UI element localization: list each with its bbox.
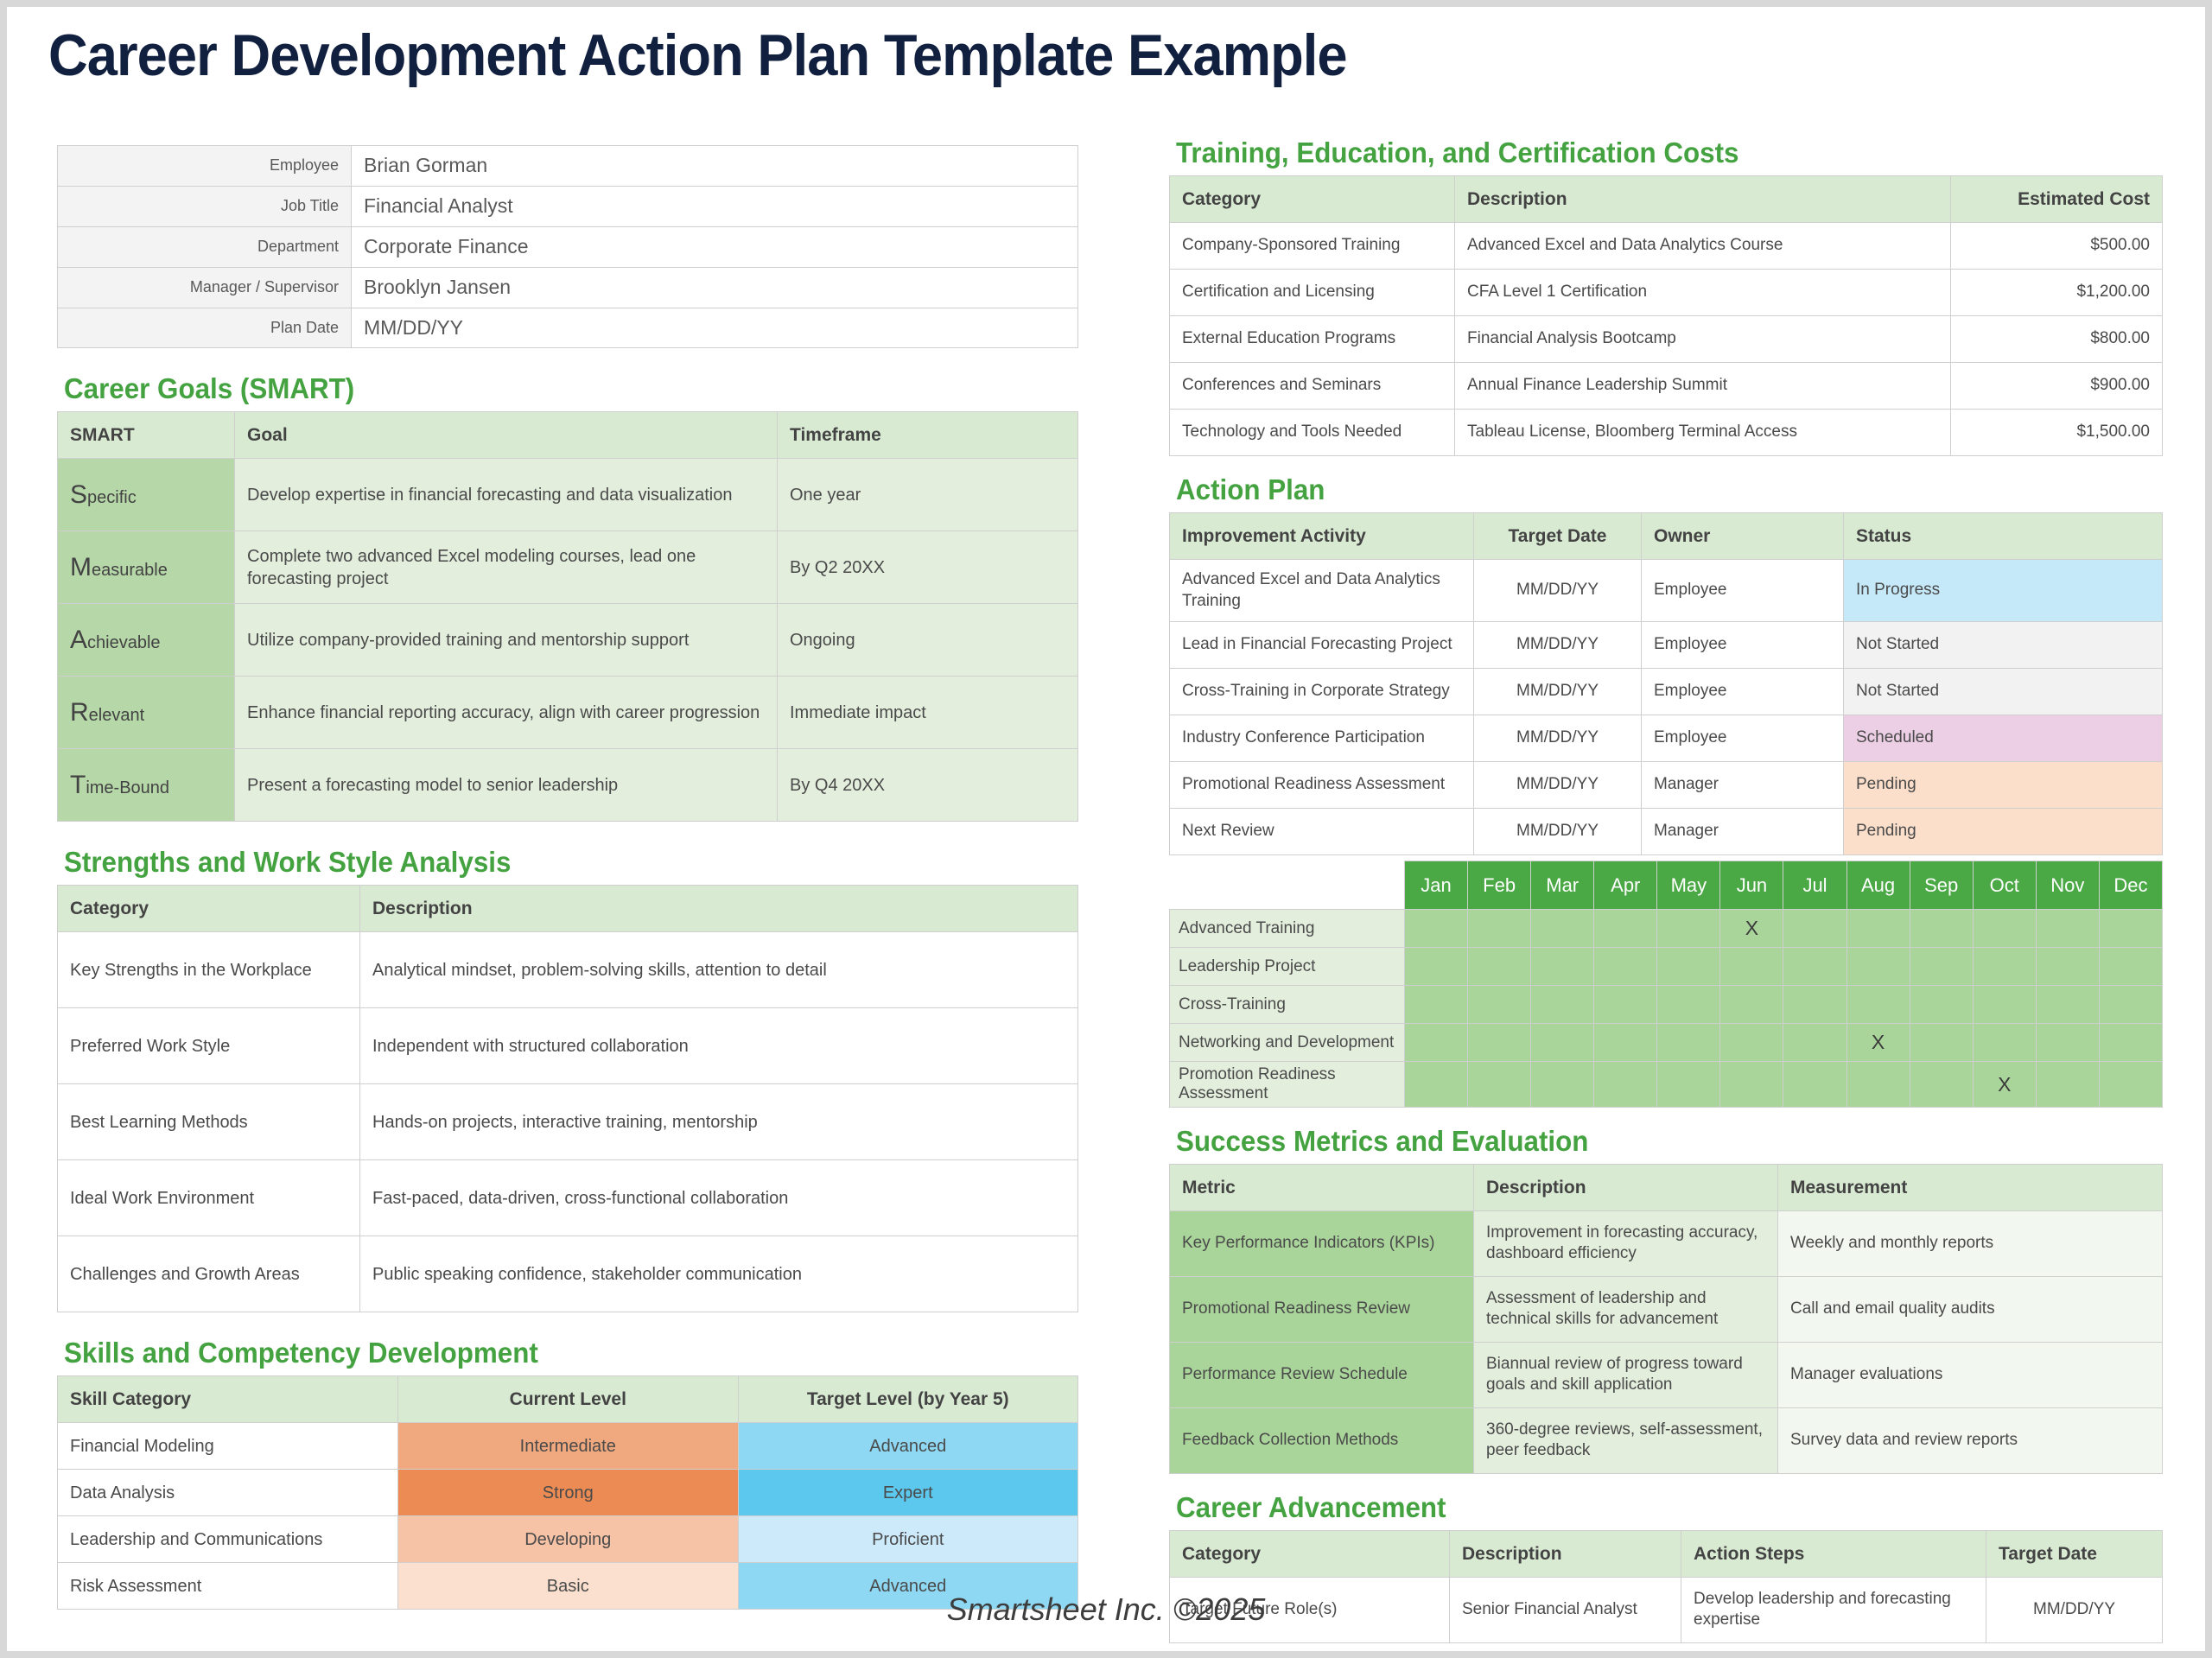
gantt-marker-cell[interactable]: X (1847, 1024, 1910, 1062)
gantt-cell[interactable] (1657, 986, 1720, 1024)
skill-target-level: Advanced (738, 1423, 1078, 1470)
info-row: Plan DateMM/DD/YY (58, 308, 1078, 348)
col-header-status: Status (1844, 512, 2163, 559)
smart-word: pecific (87, 488, 137, 507)
gantt-row-label: Cross-Training (1170, 986, 1405, 1024)
strength-description: Hands-on projects, interactive training,… (360, 1084, 1078, 1160)
action-activity: Lead in Financial Forecasting Project (1170, 622, 1474, 669)
gantt-month-feb: Feb (1468, 861, 1531, 910)
action-target-date: MM/DD/YY (1474, 622, 1642, 669)
smart-initial: M (70, 553, 92, 581)
smart-timeframe: By Q4 20XX (778, 749, 1078, 822)
skill-row: Financial ModelingIntermediateAdvanced (58, 1423, 1078, 1470)
footer-copyright: Smartsheet Inc. ©2025 (7, 1591, 2205, 1628)
gantt-cell[interactable] (1594, 910, 1657, 948)
gantt-cell[interactable] (1468, 910, 1531, 948)
smart-letter: Measurable (58, 531, 235, 604)
status-badge: Pending (1844, 762, 2163, 809)
career-goals-table: SMART Goal Timeframe SpecificDevelop exp… (57, 411, 1078, 822)
gantt-cell[interactable] (1405, 948, 1468, 986)
gantt-cell[interactable] (1594, 986, 1657, 1024)
gantt-cell[interactable] (1910, 986, 1973, 1024)
smart-word: elevant (89, 706, 145, 725)
gantt-row-label: Advanced Training (1170, 910, 1405, 948)
metric-measurement: Call and email quality audits (1778, 1276, 2163, 1342)
col-header-category: Category (58, 886, 360, 932)
career-goal-row: SpecificDevelop expertise in financial f… (58, 459, 1078, 531)
metric-description: Biannual review of progress toward goals… (1474, 1342, 1778, 1407)
action-activity: Advanced Excel and Data Analytics Traini… (1170, 559, 1474, 621)
gantt-row-label: Leadership Project (1170, 948, 1405, 986)
right-column: Training, Education, and Certification C… (1169, 138, 2163, 1643)
col-header-category: Category (1170, 175, 1455, 222)
cost-category: Company-Sponsored Training (1170, 222, 1455, 269)
metric-row: Performance Review ScheduleBiannual revi… (1170, 1342, 2163, 1407)
status-badge: Not Started (1844, 622, 2163, 669)
cost-description: CFA Level 1 Certification (1455, 269, 1951, 315)
cost-estimated: $500.00 (1951, 222, 2163, 269)
smart-goal: Utilize company-provided training and me… (235, 604, 778, 677)
gantt-cell[interactable] (1783, 1024, 1847, 1062)
smart-timeframe: Ongoing (778, 604, 1078, 677)
timeline-table: JanFebMarAprMayJunJulAugSepOctNovDec Adv… (1169, 861, 2163, 1108)
gantt-cell[interactable] (1468, 986, 1531, 1024)
gantt-row-label: Promotion Readiness Assessment (1170, 1062, 1405, 1108)
metric-measurement: Survey data and review reports (1778, 1407, 2163, 1473)
status-badge: In Progress (1844, 559, 2163, 621)
smart-timeframe: By Q2 20XX (778, 531, 1078, 604)
section-heading-skills: Skills and Competency Development (64, 1338, 1027, 1369)
gantt-cell[interactable] (1657, 910, 1720, 948)
strength-description: Fast-paced, data-driven, cross-functiona… (360, 1160, 1078, 1236)
metric-name: Key Performance Indicators (KPIs) (1170, 1210, 1474, 1276)
info-label: Employee (58, 146, 352, 187)
metric-name: Performance Review Schedule (1170, 1342, 1474, 1407)
smart-goal: Present a forecasting model to senior le… (235, 749, 778, 822)
action-activity: Next Review (1170, 809, 1474, 855)
cost-category: External Education Programs (1170, 315, 1455, 362)
info-label: Job Title (58, 186, 352, 226)
gantt-cell[interactable] (1594, 948, 1657, 986)
skill-category: Leadership and Communications (58, 1516, 398, 1563)
gantt-month-oct: Oct (1973, 861, 2036, 910)
smart-letter: Relevant (58, 677, 235, 749)
gantt-cell[interactable] (2036, 948, 2099, 986)
info-label: Department (58, 226, 352, 267)
action-owner: Employee (1642, 622, 1844, 669)
gantt-cell[interactable] (1657, 1024, 1720, 1062)
smart-initial: R (70, 698, 89, 727)
col-header-owner: Owner (1642, 512, 1844, 559)
action-plan-row: Next ReviewMM/DD/YYManagerPending (1170, 809, 2163, 855)
cost-description: Tableau License, Bloomberg Terminal Acce… (1455, 409, 1951, 455)
strength-category: Key Strengths in the Workplace (58, 932, 360, 1008)
col-header-target-date: Target Date (1986, 1530, 2163, 1577)
cost-row: Conferences and SeminarsAnnual Finance L… (1170, 362, 2163, 409)
action-target-date: MM/DD/YY (1474, 669, 1642, 715)
gantt-month-nov: Nov (2036, 861, 2099, 910)
gantt-cell[interactable] (1847, 1062, 1910, 1108)
col-header-description: Description (1450, 1530, 1681, 1577)
col-header-category: Category (1170, 1530, 1450, 1577)
gantt-cell[interactable] (1657, 1062, 1720, 1108)
skills-table: Skill Category Current Level Target Leve… (57, 1375, 1078, 1610)
timeline-gantt: JanFebMarAprMayJunJulAugSepOctNovDec Adv… (1169, 861, 2163, 1108)
gantt-cell[interactable] (1847, 986, 1910, 1024)
metric-measurement: Manager evaluations (1778, 1342, 2163, 1407)
smart-timeframe: One year (778, 459, 1078, 531)
metric-description: 360-degree reviews, self-assessment, pee… (1474, 1407, 1778, 1473)
info-row: Manager / SupervisorBrooklyn Jansen (58, 267, 1078, 308)
skill-current-level: Strong (398, 1470, 739, 1516)
gantt-marker-cell[interactable]: X (1973, 1062, 2036, 1108)
gantt-cell[interactable] (2036, 1024, 2099, 1062)
action-owner: Manager (1642, 809, 1844, 855)
gantt-cell[interactable] (1531, 986, 1594, 1024)
gantt-cell[interactable] (1910, 948, 1973, 986)
gantt-month-mar: Mar (1531, 861, 1594, 910)
left-column: EmployeeBrian GormanJob TitleFinancial A… (57, 145, 1078, 1610)
info-row: EmployeeBrian Gorman (58, 146, 1078, 187)
action-target-date: MM/DD/YY (1474, 715, 1642, 762)
smart-initial: T (70, 771, 86, 799)
action-target-date: MM/DD/YY (1474, 559, 1642, 621)
gantt-cell[interactable] (1973, 986, 2036, 1024)
gantt-cell[interactable] (1910, 1024, 1973, 1062)
gantt-row-label: Networking and Development (1170, 1024, 1405, 1062)
skill-current-level: Intermediate (398, 1423, 739, 1470)
smart-goal: Complete two advanced Excel modeling cou… (235, 531, 778, 604)
status-badge: Scheduled (1844, 715, 2163, 762)
col-header-smart: SMART (58, 412, 235, 459)
gantt-cell[interactable] (1973, 1024, 2036, 1062)
col-header-target-level: Target Level (by Year 5) (738, 1375, 1078, 1422)
info-value[interactable]: Brooklyn Jansen (352, 267, 1078, 308)
smart-word: chievable (87, 633, 161, 652)
strength-row: Key Strengths in the WorkplaceAnalytical… (58, 932, 1078, 1008)
info-row: DepartmentCorporate Finance (58, 226, 1078, 267)
page-title: Career Development Action Plan Template … (48, 26, 1347, 85)
skill-current-level: Developing (398, 1516, 739, 1563)
skill-row: Data AnalysisStrongExpert (58, 1470, 1078, 1516)
cost-row: Technology and Tools NeededTableau Licen… (1170, 409, 2163, 455)
strength-description: Independent with structured collaboratio… (360, 1008, 1078, 1084)
metrics-table: Metric Description Measurement Key Perfo… (1169, 1164, 2163, 1474)
gantt-month-aug: Aug (1847, 861, 1910, 910)
gantt-cell[interactable] (1720, 1024, 1783, 1062)
gantt-cell[interactable] (1973, 948, 2036, 986)
action-plan-row: Industry Conference ParticipationMM/DD/Y… (1170, 715, 2163, 762)
smart-initial: S (70, 480, 87, 509)
cost-estimated: $1,200.00 (1951, 269, 2163, 315)
gantt-cell[interactable] (1531, 910, 1594, 948)
gantt-cell[interactable] (2099, 986, 2162, 1024)
smart-letter: Time-Bound (58, 749, 235, 822)
info-value[interactable]: Brian Gorman (352, 146, 1078, 187)
col-header-timeframe: Timeframe (778, 412, 1078, 459)
info-value[interactable]: Corporate Finance (352, 226, 1078, 267)
gantt-row: Networking and DevelopmentX (1170, 1024, 2163, 1062)
gantt-cell[interactable] (1594, 1024, 1657, 1062)
gantt-cell[interactable] (1973, 910, 2036, 948)
metric-row: Feedback Collection Methods360-degree re… (1170, 1407, 2163, 1473)
strength-description: Public speaking confidence, stakeholder … (360, 1236, 1078, 1312)
gantt-month-jul: Jul (1783, 861, 1847, 910)
skill-row: Leadership and CommunicationsDevelopingP… (58, 1516, 1078, 1563)
skill-target-level: Expert (738, 1470, 1078, 1516)
gantt-cell[interactable] (1910, 1062, 1973, 1108)
col-header-current-level: Current Level (398, 1375, 739, 1422)
cost-description: Advanced Excel and Data Analytics Course (1455, 222, 1951, 269)
action-plan-row: Promotional Readiness AssessmentMM/DD/YY… (1170, 762, 2163, 809)
skill-category: Financial Modeling (58, 1423, 398, 1470)
col-header-target-date: Target Date (1474, 512, 1642, 559)
gantt-cell[interactable] (1720, 986, 1783, 1024)
info-value[interactable]: MM/DD/YY (352, 308, 1078, 348)
gantt-cell[interactable] (1531, 1024, 1594, 1062)
gantt-cell[interactable] (2036, 910, 2099, 948)
gantt-cell[interactable] (2099, 910, 2162, 948)
gantt-month-dec: Dec (2099, 861, 2162, 910)
action-plan-row: Cross-Training in Corporate StrategyMM/D… (1170, 669, 2163, 715)
gantt-cell[interactable] (2036, 986, 2099, 1024)
cost-category: Certification and Licensing (1170, 269, 1455, 315)
metric-measurement: Weekly and monthly reports (1778, 1210, 2163, 1276)
strength-row: Ideal Work EnvironmentFast-paced, data-d… (58, 1160, 1078, 1236)
cost-category: Technology and Tools Needed (1170, 409, 1455, 455)
action-owner: Employee (1642, 559, 1844, 621)
gantt-row: Cross-Training (1170, 986, 2163, 1024)
career-goal-row: RelevantEnhance financial reporting accu… (58, 677, 1078, 749)
gantt-row: Advanced TrainingX (1170, 910, 2163, 948)
gantt-cell[interactable] (1405, 910, 1468, 948)
action-plan-table: Improvement Activity Target Date Owner S… (1169, 512, 2163, 856)
action-target-date: MM/DD/YY (1474, 762, 1642, 809)
smart-goal: Develop expertise in financial forecasti… (235, 459, 778, 531)
career-goal-row: AchievableUtilize company-provided train… (58, 604, 1078, 677)
skill-category: Data Analysis (58, 1470, 398, 1516)
strength-row: Challenges and Growth AreasPublic speaki… (58, 1236, 1078, 1312)
strength-category: Best Learning Methods (58, 1084, 360, 1160)
metric-description: Assessment of leadership and technical s… (1474, 1276, 1778, 1342)
gantt-cell[interactable] (1531, 1062, 1594, 1108)
gantt-cell[interactable] (1847, 948, 1910, 986)
cost-estimated: $900.00 (1951, 362, 2163, 409)
document-page: Career Development Action Plan Template … (7, 7, 2205, 1651)
cost-estimated: $1,500.00 (1951, 409, 2163, 455)
strength-description: Analytical mindset, problem-solving skil… (360, 932, 1078, 1008)
gantt-cell[interactable] (1847, 910, 1910, 948)
smart-goal: Enhance financial reporting accuracy, al… (235, 677, 778, 749)
action-activity: Cross-Training in Corporate Strategy (1170, 669, 1474, 715)
action-owner: Employee (1642, 669, 1844, 715)
cost-description: Annual Finance Leadership Summit (1455, 362, 1951, 409)
gantt-cell[interactable] (1783, 1062, 1847, 1108)
gantt-cell[interactable] (1910, 910, 1973, 948)
gantt-month-may: May (1657, 861, 1720, 910)
cost-category: Conferences and Seminars (1170, 362, 1455, 409)
smart-timeframe: Immediate impact (778, 677, 1078, 749)
gantt-cell[interactable] (1531, 948, 1594, 986)
smart-initial: A (70, 626, 87, 654)
gantt-cell[interactable] (2036, 1062, 2099, 1108)
career-goal-row: MeasurableComplete two advanced Excel mo… (58, 531, 1078, 604)
cost-row: Company-Sponsored TrainingAdvanced Excel… (1170, 222, 2163, 269)
cost-description: Financial Analysis Bootcamp (1455, 315, 1951, 362)
smart-word: easurable (92, 561, 168, 580)
skill-target-level: Proficient (738, 1516, 1078, 1563)
gantt-month-sep: Sep (1910, 861, 1973, 910)
metric-description: Improvement in forecasting accuracy, das… (1474, 1210, 1778, 1276)
action-plan-row: Advanced Excel and Data Analytics Traini… (1170, 559, 2163, 621)
strength-row: Preferred Work StyleIndependent with str… (58, 1008, 1078, 1084)
gantt-corner (1170, 861, 1405, 910)
smart-letter: Achievable (58, 604, 235, 677)
cost-estimated: $800.00 (1951, 315, 2163, 362)
gantt-cell[interactable] (1405, 986, 1468, 1024)
strength-row: Best Learning MethodsHands-on projects, … (58, 1084, 1078, 1160)
gantt-month-apr: Apr (1594, 861, 1657, 910)
cost-row: Certification and LicensingCFA Level 1 C… (1170, 269, 2163, 315)
metric-row: Key Performance Indicators (KPIs)Improve… (1170, 1210, 2163, 1276)
gantt-marker-cell[interactable]: X (1720, 910, 1783, 948)
metric-name: Feedback Collection Methods (1170, 1407, 1474, 1473)
strength-category: Ideal Work Environment (58, 1160, 360, 1236)
gantt-row: Promotion Readiness AssessmentX (1170, 1062, 2163, 1108)
action-target-date: MM/DD/YY (1474, 809, 1642, 855)
section-heading-advancement: Career Advancement (1176, 1493, 2113, 1523)
action-owner: Employee (1642, 715, 1844, 762)
gantt-cell[interactable] (1783, 948, 1847, 986)
info-label: Plan Date (58, 308, 352, 348)
section-heading-career-goals: Career Goals (SMART) (64, 374, 1027, 404)
info-label: Manager / Supervisor (58, 267, 352, 308)
status-badge: Pending (1844, 809, 2163, 855)
smart-letter: Specific (58, 459, 235, 531)
strength-category: Challenges and Growth Areas (58, 1236, 360, 1312)
cost-row: External Education ProgramsFinancial Ana… (1170, 315, 2163, 362)
gantt-cell[interactable] (1657, 948, 1720, 986)
strength-category: Preferred Work Style (58, 1008, 360, 1084)
section-heading-action-plan: Action Plan (1176, 475, 2113, 505)
gantt-cell[interactable] (1468, 1062, 1531, 1108)
info-value[interactable]: Financial Analyst (352, 186, 1078, 226)
col-header-measurement: Measurement (1778, 1164, 2163, 1210)
section-heading-costs: Training, Education, and Certification C… (1176, 138, 2113, 168)
action-activity: Industry Conference Participation (1170, 715, 1474, 762)
gantt-row: Leadership Project (1170, 948, 2163, 986)
metric-name: Promotional Readiness Review (1170, 1276, 1474, 1342)
col-header-description: Description (360, 886, 1078, 932)
gantt-cell[interactable] (1468, 948, 1531, 986)
col-header-description: Description (1474, 1164, 1778, 1210)
section-heading-metrics: Success Metrics and Evaluation (1176, 1127, 2113, 1157)
col-header-action-steps: Action Steps (1681, 1530, 1986, 1577)
gantt-month-jan: Jan (1405, 861, 1468, 910)
employee-info-table: EmployeeBrian GormanJob TitleFinancial A… (57, 145, 1078, 348)
gantt-cell[interactable] (1405, 1062, 1468, 1108)
strengths-table: Category Description Key Strengths in th… (57, 885, 1078, 1312)
gantt-cell[interactable] (1720, 948, 1783, 986)
gantt-cell[interactable] (1783, 910, 1847, 948)
gantt-cell[interactable] (1783, 986, 1847, 1024)
gantt-cell[interactable] (2099, 1062, 2162, 1108)
metric-row: Promotional Readiness ReviewAssessment o… (1170, 1276, 2163, 1342)
smart-word: ime-Bound (86, 778, 169, 797)
col-header-improvement-activity: Improvement Activity (1170, 512, 1474, 559)
col-header-estimated-cost: Estimated Cost (1951, 175, 2163, 222)
info-row: Job TitleFinancial Analyst (58, 186, 1078, 226)
action-owner: Manager (1642, 762, 1844, 809)
gantt-month-jun: Jun (1720, 861, 1783, 910)
status-badge: Not Started (1844, 669, 2163, 715)
gantt-cell[interactable] (1405, 1024, 1468, 1062)
career-goal-row: Time-BoundPresent a forecasting model to… (58, 749, 1078, 822)
col-header-metric: Metric (1170, 1164, 1474, 1210)
gantt-cell[interactable] (2099, 948, 2162, 986)
col-header-description: Description (1455, 175, 1951, 222)
gantt-cell[interactable] (1720, 1062, 1783, 1108)
gantt-cell[interactable] (1594, 1062, 1657, 1108)
section-heading-strengths: Strengths and Work Style Analysis (64, 848, 1027, 878)
action-activity: Promotional Readiness Assessment (1170, 762, 1474, 809)
costs-table: Category Description Estimated Cost Comp… (1169, 175, 2163, 456)
col-header-goal: Goal (235, 412, 778, 459)
action-plan-row: Lead in Financial Forecasting ProjectMM/… (1170, 622, 2163, 669)
gantt-cell[interactable] (2099, 1024, 2162, 1062)
col-header-skill-category: Skill Category (58, 1375, 398, 1422)
gantt-cell[interactable] (1468, 1024, 1531, 1062)
